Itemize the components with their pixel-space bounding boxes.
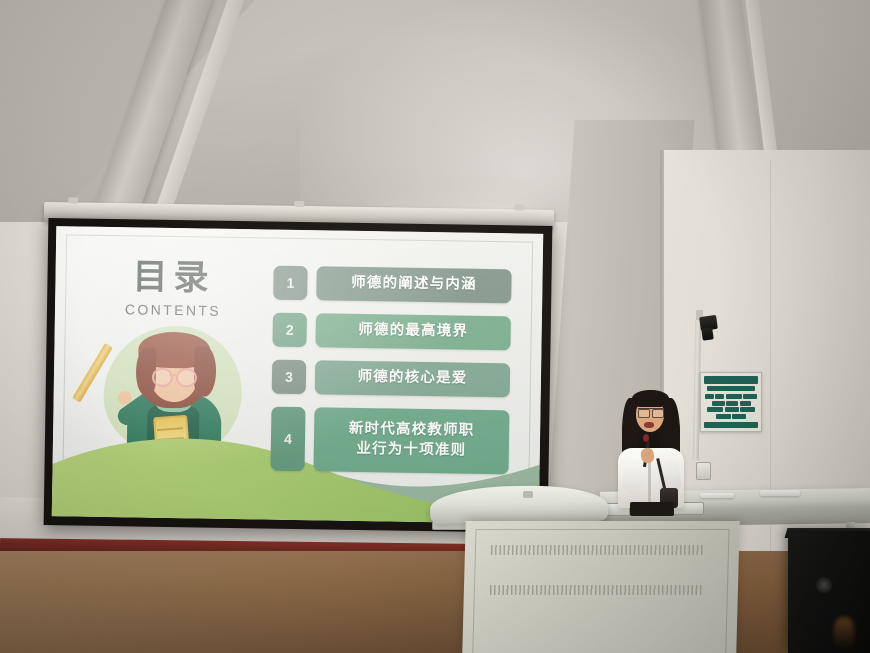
slide-contents-list: 1 师德的阐述与内涵 2 师德的最高境界 3 师德的核心是爱 4 新时代高校教师…: [270, 266, 511, 488]
notice-chip: [716, 414, 731, 419]
desk-remote: [760, 490, 800, 496]
podium-knob: [523, 491, 533, 498]
presentation-slide: 目录 CONTENTS: [52, 226, 543, 524]
notice-chip: [712, 401, 725, 406]
contents-item-4: 4 新时代高校教师职 业行为十项准则: [271, 407, 510, 475]
contents-item-3: 3 师德的核心是爱: [272, 360, 511, 398]
contents-number-2: 2: [272, 313, 307, 348]
presenter-glasses: [638, 408, 663, 416]
notice-chip: [743, 394, 757, 399]
screen-clip-mid: [294, 201, 304, 207]
projector-screen: 目录 CONTENTS: [44, 218, 553, 533]
contents-label-3: 师德的核心是爱: [315, 360, 511, 397]
contents-number-1: 1: [273, 266, 308, 301]
presenter-lens-left: [638, 409, 650, 418]
notice-chip: [707, 407, 723, 412]
presenter: [600, 386, 698, 506]
lectern-podium: [462, 521, 739, 653]
wall-junction-box: [696, 462, 711, 480]
desk-paper: [700, 493, 734, 498]
contents-item-1: 1 师德的阐述与内涵: [273, 266, 512, 304]
contents-item-2: 2 师德的最高境界: [272, 313, 511, 351]
slide-title: 目录: [93, 259, 254, 297]
speaker-reflection: [834, 617, 854, 647]
presenter-skirt: [630, 502, 674, 516]
notice-header-bar: [704, 376, 758, 384]
lecture-hall-photo: 目录 CONTENTS: [0, 0, 870, 653]
screen-clip-right: [514, 204, 524, 210]
contents-number-4: 4: [271, 407, 306, 472]
projection-surface: 目录 CONTENTS: [52, 226, 543, 524]
notice-chip-grid: [704, 394, 758, 419]
presenter-hair-top: [632, 390, 669, 407]
notice-chip: [725, 407, 739, 412]
floor-speaker-cabinet: [788, 531, 870, 653]
camera-lens-icon: [701, 327, 714, 340]
notice-chip: [726, 401, 738, 406]
notice-chip: [726, 394, 742, 399]
slide-subtitle: CONTENTS: [93, 301, 253, 320]
notice-subheader-bar: [707, 386, 755, 391]
illustration-glasses-right-lens: [176, 368, 197, 387]
green-notice-board: [700, 372, 762, 432]
notice-chip: [740, 401, 751, 406]
presenter-mouth: [644, 422, 654, 428]
slide-title-block: 目录 CONTENTS: [93, 259, 254, 320]
contents-label-2: 师德的最高境界: [315, 313, 511, 350]
contents-label-4: 新时代高校教师职 业行为十项准则: [313, 407, 509, 474]
notice-chip: [705, 394, 714, 399]
podium-vent-upper: [491, 545, 703, 555]
presenter-lens-right: [652, 409, 664, 418]
contents-label-1: 师德的阐述与内涵: [316, 266, 512, 303]
notice-chip: [732, 414, 746, 419]
contents-number-3: 3: [272, 360, 307, 395]
notice-footer-bar: [704, 422, 758, 428]
podium-vent-lower: [490, 585, 702, 595]
speaker-driver-icon: [816, 577, 832, 593]
notice-chip: [740, 407, 755, 412]
illustration-glasses-bridge: [169, 374, 176, 376]
screen-clip-left: [68, 197, 78, 203]
notice-chip: [715, 394, 724, 399]
